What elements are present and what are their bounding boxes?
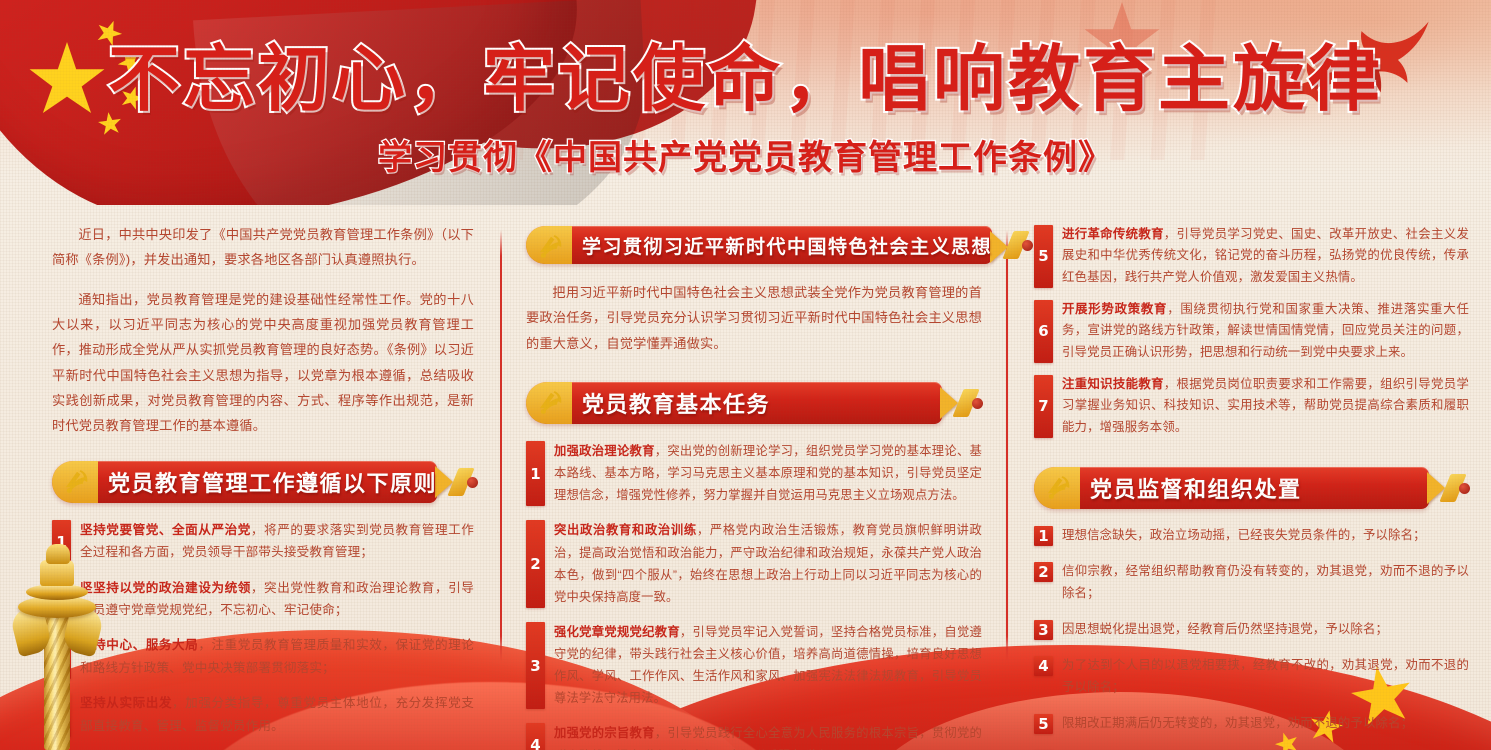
item-text: 进行革命传统教育，引导党员学习党史、国史、改革开放史、社会主义发展史和中华优秀传… [1062, 224, 1469, 288]
item-number: 7 [1034, 375, 1053, 438]
page-subtitle: 学习贯彻《中国共产党党员教育管理工作条例》 [0, 130, 1491, 179]
middle-column: 学习贯彻习近平新时代中国特色社会主义思想 把用习近平新时代中国特色社会主义思想武… [500, 222, 1008, 672]
party-emblem-icon [60, 465, 94, 499]
item-lead: 加强政治理论教育 [554, 444, 655, 458]
banner-title: 党员监督和组织处置 [1090, 472, 1302, 504]
tasks-continued-list: 5 进行革命传统教育，引导党员学习党史、国史、改革开放史、社会主义发展史和中华优… [1034, 224, 1469, 449]
list-item: 5 进行革命传统教育，引导党员学习党史、国史、改革开放史、社会主义发展史和中华优… [1034, 224, 1469, 288]
discipline-list: 1 理想信念缺失，政治立场动摇，已经丧失党员条件的，予以除名； 2 信仰宗教，经… [1034, 525, 1469, 750]
item-number: 1 [1034, 526, 1053, 546]
list-item: 4 为了达到个人目的以退党相要挟，经教育不改的，劝其退党，劝而不退的予以除名； [1034, 655, 1469, 698]
item-number: 1 [526, 441, 545, 506]
item-number: 3 [526, 622, 545, 710]
item-text: 突出政治教育和政治训练，严格党内政治生活锻炼，教育党员旗帜鲜明讲政治，提高政治觉… [554, 519, 982, 608]
list-item: 2 坚坚持以党的政治建设为统领，突出党性教育和政治理论教育，引导党员遵守党章党规… [52, 577, 474, 622]
list-item: 2 突出政治教育和政治训练，严格党内政治生活锻炼，教育党员旗帜鲜明讲政治，提高政… [526, 519, 982, 608]
item-number: 6 [1034, 300, 1053, 363]
item-text: 限期改正期满后仍无转变的，劝其退党，劝而不退的予以除名； [1062, 713, 1469, 734]
basic-tasks-list: 1 加强政治理论教育，突出党的创新理论学习，组织党员学习党的基本理论、基本路线、… [526, 440, 982, 750]
banner-title: 党员教育管理工作遵循以下原则 [108, 466, 437, 498]
section-banner-supervision: 党员监督和组织处置 [1034, 467, 1469, 509]
item-lead: 强化党章党规党纪教育 [554, 625, 680, 639]
item-number: 2 [1034, 562, 1053, 582]
list-item: 7 注重知识技能教育，根据党员岗位职责要求和工作需要，组织引导党员学习掌握业务知… [1034, 374, 1469, 438]
banner-body: 学习贯彻习近平新时代中国特色社会主义思想 [526, 226, 992, 264]
item-text: 坚持党要管党、全面从严治党，将严的要求落实到党员教育管理工作全过程和各方面，党员… [80, 519, 474, 564]
item-text: 因思想蜕化提出退党，经教育后仍然坚持退党，予以除名； [1062, 619, 1469, 640]
list-item: 1 坚持党要管党、全面从严治党，将严的要求落实到党员教育管理工作全过程和各方面，… [52, 519, 474, 564]
item-text: 坚持中心、服务大局，注重党员教育管理质量和实效，保证党的理论和路线方针政策、党中… [80, 634, 474, 679]
item-lead: 开展形势政策教育 [1062, 302, 1167, 316]
item-number: 2 [526, 520, 545, 608]
item-number: 5 [1034, 714, 1053, 734]
title-block: 不忘初心，牢记使命，唱响教育主旋律 学习贯彻《中国共产党党员教育管理工作条例》 [0, 42, 1491, 179]
page-title: 不忘初心，牢记使命，唱响教育主旋律 [0, 42, 1491, 118]
item-text: 开展形势政策教育，围绕贯彻执行党和国家重大决策、推进落实重大任务，宣讲党的路线方… [1062, 299, 1469, 363]
list-item: 1 理想信念缺失，政治立场动摇，已经丧失党员条件的，予以除名； [1034, 525, 1469, 546]
item-text: 信仰宗教，经常组织帮助教育仍没有转变的，劝其退党，劝而不退的予以除名； [1062, 561, 1469, 604]
item-lead: 注重知识技能教育 [1062, 377, 1164, 391]
section-banner-principles: 党员教育管理工作遵循以下原则 [52, 461, 474, 503]
content-columns: 近日，中共中央印发了《中国共产党党员教育管理工作条例》（以下简称《条例》)，并发… [0, 222, 1491, 672]
banner-title: 党员教育基本任务 [582, 387, 770, 419]
party-emblem-icon [534, 386, 568, 420]
party-emblem-icon [1042, 471, 1076, 505]
item-text: 理想信念缺失，政治立场动摇，已经丧失党员条件的，予以除名； [1062, 525, 1469, 546]
xi-thought-paragraph: 把用习近平新时代中国特色社会主义思想武装全党作为党员教育管理的首要政治任务，引导… [526, 280, 982, 356]
list-item: 5 限期改正期满后仍无转变的，劝其退党，劝而不退的予以除名； [1034, 713, 1469, 734]
item-lead: 突出政治教育和政治训练 [554, 523, 697, 537]
item-text: 加强政治理论教育，突出党的创新理论学习，组织党员学习党的基本理论、基本路线、基本… [554, 440, 982, 506]
poster-canvas: 不忘初心，牢记使命，唱响教育主旋律 学习贯彻《中国共产党党员教育管理工作条例》 … [0, 0, 1491, 750]
item-number: 3 [1034, 620, 1053, 640]
section-banner-basic-tasks: 党员教育基本任务 [526, 382, 982, 424]
list-item: 3 强化党章党规党纪教育，引导党员牢记入党誓词，坚持合格党员标准，自觉遵守党的纪… [526, 621, 982, 710]
intro-paragraph: 通知指出，党员教育管理是党的建设基础性经常性工作。党的十八大以来，以习近平同志为… [52, 287, 474, 439]
intro-paragraph: 近日，中共中央印发了《中国共产党党员教育管理工作条例》（以下简称《条例》)，并发… [52, 222, 474, 273]
list-item: 4 坚持从实际出发，加强分类指导，尊重党员主体地位，充分发挥党支部直接教育、管理… [52, 692, 474, 737]
banner-tail-decor [1443, 467, 1469, 509]
item-lead: 进行革命传统教育 [1062, 227, 1164, 241]
banner-tail-decor [451, 461, 477, 503]
huabiao-column-icon [14, 540, 100, 750]
list-item: 4 加强党的宗旨教育，引导党员践行全心全意为人民服务的根本宗旨，贯彻党的群众路线… [526, 722, 982, 750]
item-number: 4 [1034, 656, 1053, 676]
item-text: 坚坚持以党的政治建设为统领，突出党性教育和政治理论教育，引导党员遵守党章党规党纪… [80, 577, 474, 622]
item-text: 坚持从实际出发，加强分类指导，尊重党员主体地位，充分发挥党支部直接教育、管理、监… [80, 692, 474, 737]
list-item: 2 信仰宗教，经常组织帮助教育仍没有转变的，劝其退党，劝而不退的予以除名； [1034, 561, 1469, 604]
item-lead: 坚坚持以党的政治建设为统领 [80, 581, 251, 595]
list-item: 6 开展形势政策教育，围绕贯彻执行党和国家重大决策、推进落实重大任务，宣讲党的路… [1034, 299, 1469, 363]
item-number: 4 [526, 723, 545, 750]
list-item: 3 因思想蜕化提出退党，经教育后仍然坚持退党，予以除名； [1034, 619, 1469, 640]
item-text: 注重知识技能教育，根据党员岗位职责要求和工作需要，组织引导党员学习掌握业务知识、… [1062, 374, 1469, 438]
item-number: 5 [1034, 225, 1053, 288]
item-lead: 加强党的宗旨教育 [554, 726, 655, 740]
poster-header: 不忘初心，牢记使命，唱响教育主旋律 学习贯彻《中国共产党党员教育管理工作条例》 [0, 0, 1491, 205]
item-lead: 坚持党要管党、全面从严治党 [80, 523, 251, 537]
party-emblem-icon [534, 230, 568, 264]
banner-tail-decor [956, 382, 982, 424]
list-item: 3 坚持中心、服务大局，注重党员教育管理质量和实效，保证党的理论和路线方针政策、… [52, 634, 474, 679]
principles-list: 1 坚持党要管党、全面从严治党，将严的要求落实到党员教育管理工作全过程和各方面，… [52, 519, 474, 750]
banner-title: 学习贯彻习近平新时代中国特色社会主义思想 [582, 232, 992, 259]
item-text: 为了达到个人目的以退党相要挟，经教育不改的，劝其退党，劝而不退的予以除名； [1062, 655, 1469, 698]
list-item: 1 加强政治理论教育，突出党的创新理论学习，组织党员学习党的基本理论、基本路线、… [526, 440, 982, 506]
banner-body: 党员监督和组织处置 [1034, 467, 1429, 509]
right-column: 5 进行革命传统教育，引导党员学习党史、国史、改革开放史、社会主义发展史和中华优… [1008, 222, 1491, 672]
item-text: 强化党章党规党纪教育，引导党员牢记入党誓词，坚持合格党员标准，自觉遵守党的纪律，… [554, 621, 982, 710]
banner-body: 党员教育管理工作遵循以下原则 [52, 461, 437, 503]
banner-body: 党员教育基本任务 [526, 382, 942, 424]
item-text: 加强党的宗旨教育，引导党员践行全心全意为人民服务的根本宗旨，贯彻党的群众路线，提… [554, 722, 982, 750]
section-banner-xi-thought: 学习贯彻习近平新时代中国特色社会主义思想 [526, 226, 982, 264]
